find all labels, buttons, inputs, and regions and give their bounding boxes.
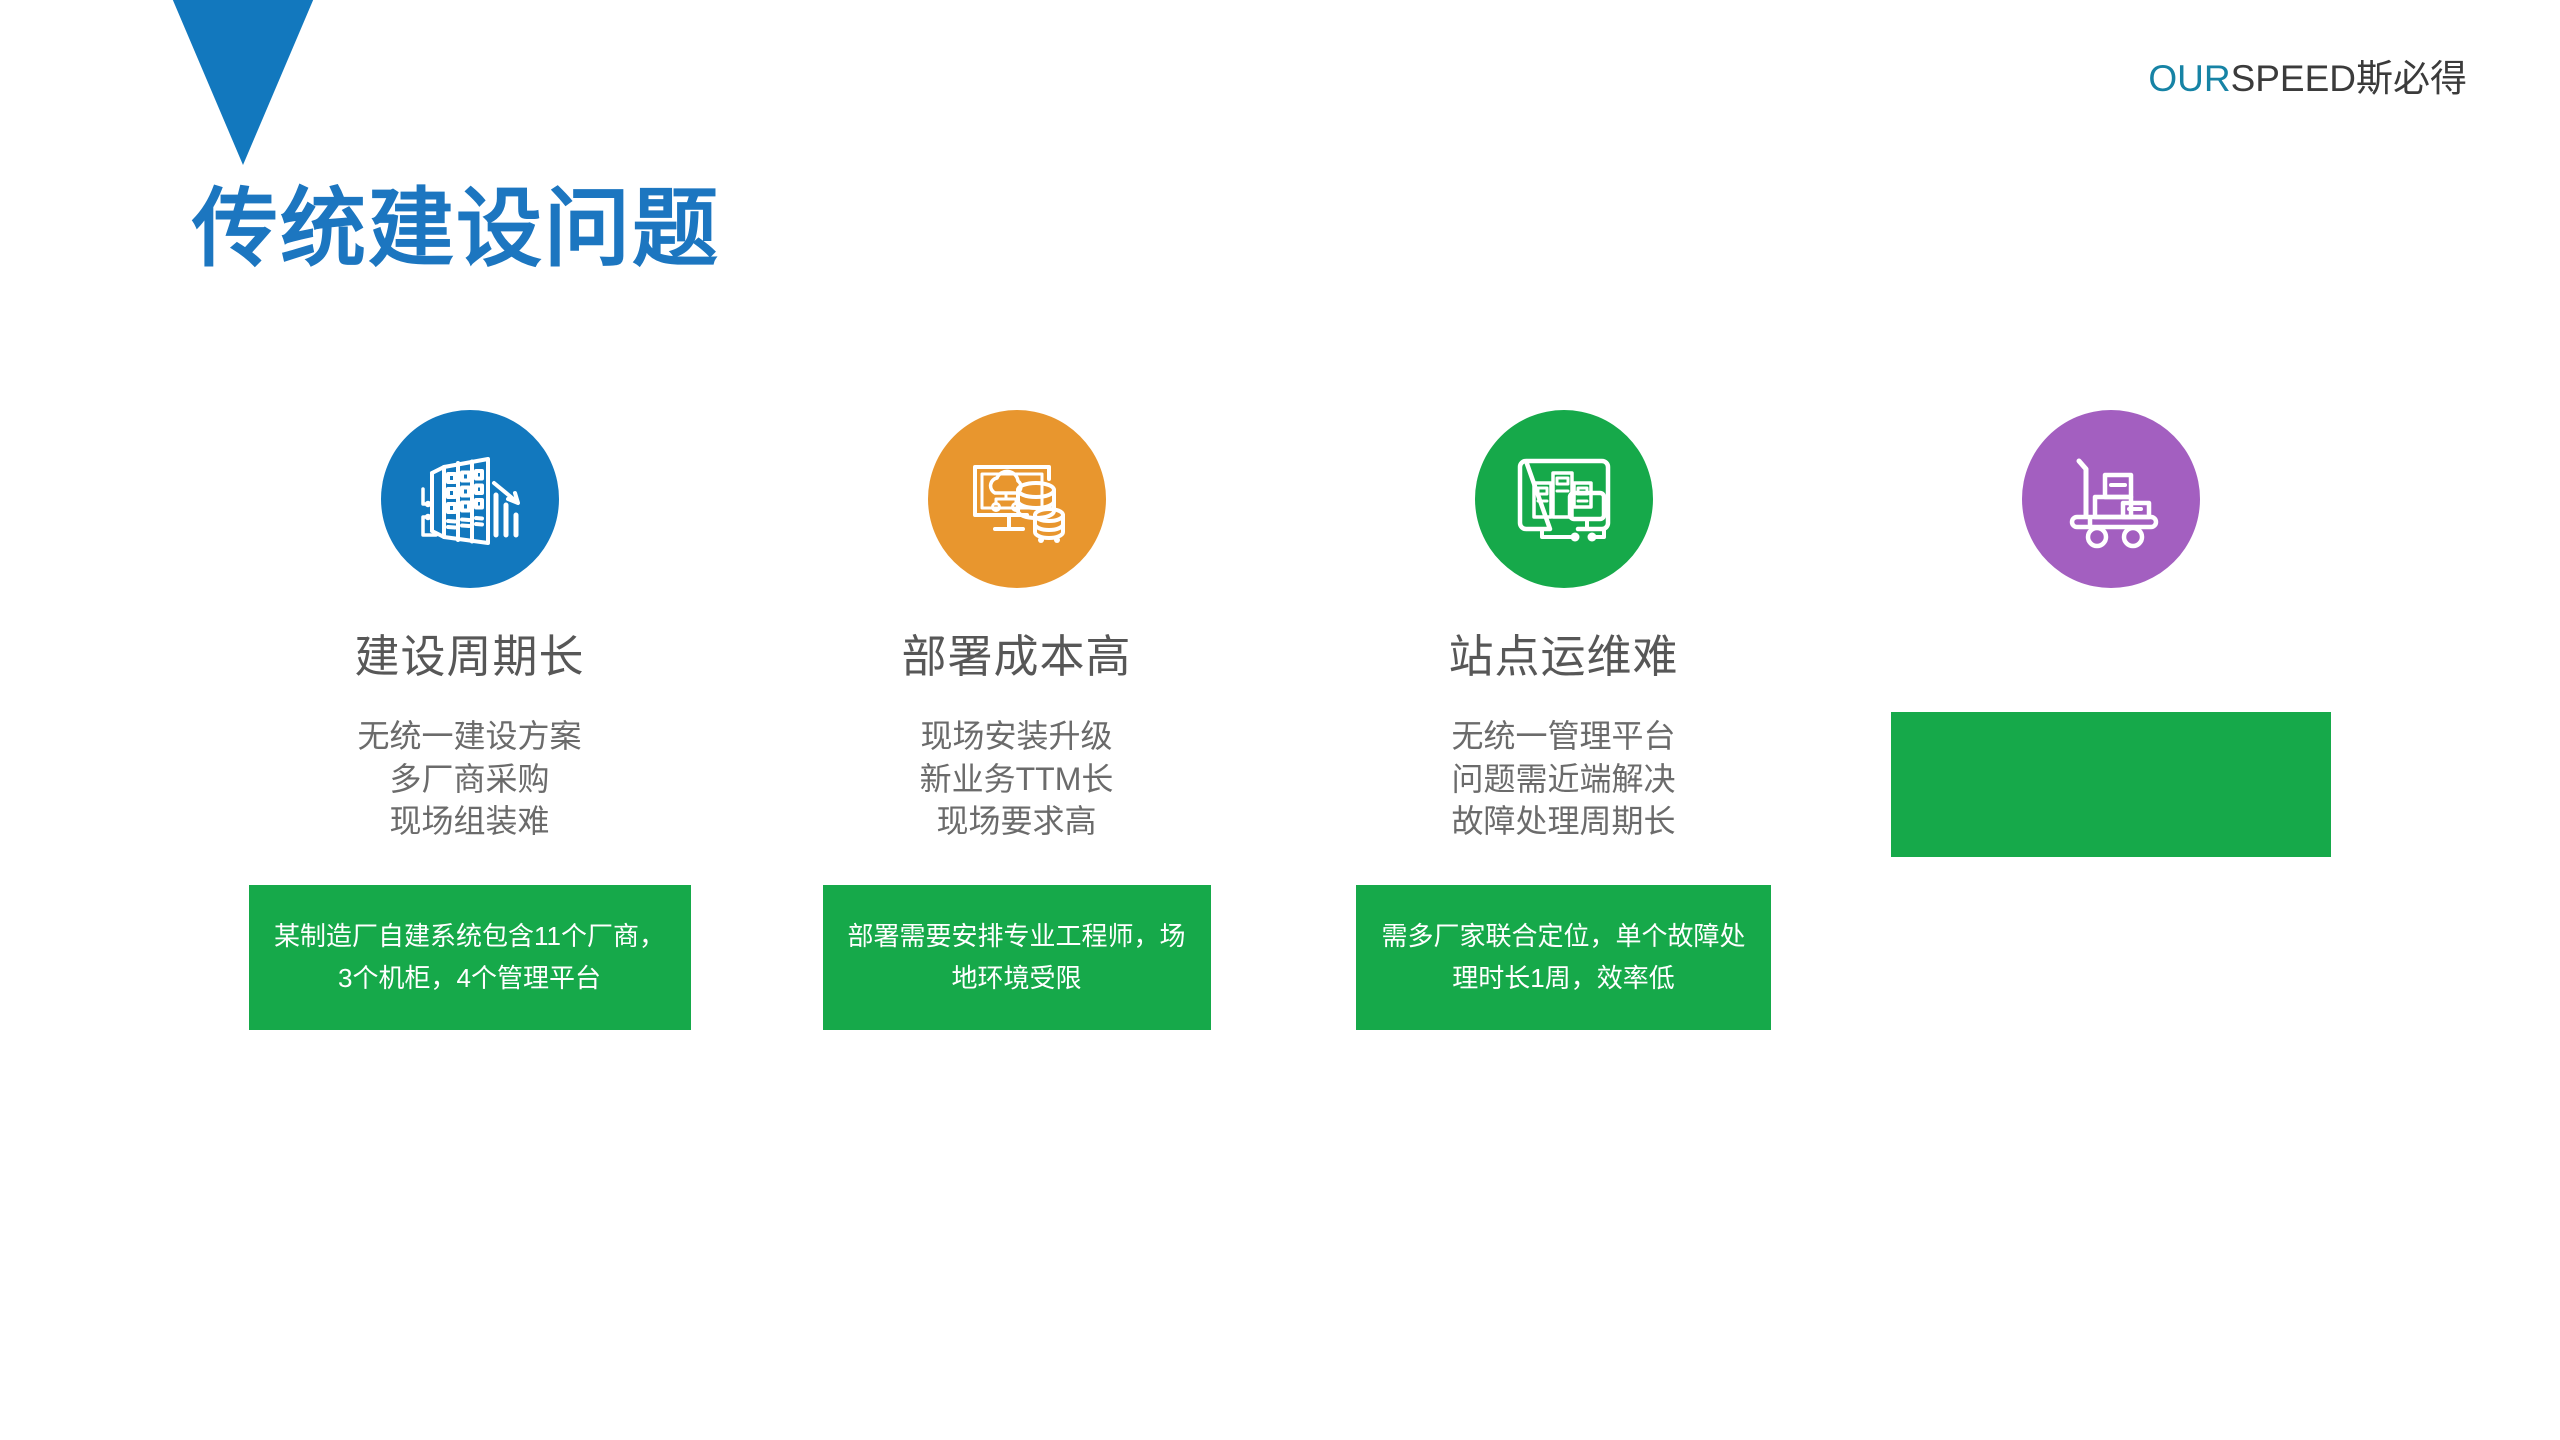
column-point: 无统一建设方案: [357, 715, 581, 758]
column-point: 故障处理周期长: [1451, 800, 1675, 843]
server-monitor-management-icon: [1475, 410, 1653, 588]
column-points: 无统一建设方案 多厂商采购 现场组装难: [357, 715, 581, 843]
case-callout-box: 某制造厂自建系统包含11个厂商，3个机柜，4个管理平台: [249, 885, 691, 1030]
problem-columns: 建设周期长 无统一建设方案 多厂商采购 现场组装难 某制造厂自建系统包含11个厂…: [196, 410, 2384, 1030]
case-callout-text: 部署需要安排专业工程师，场地环境受限: [845, 915, 1189, 999]
logo-suffix-text: SPEED斯必得: [2231, 58, 2467, 99]
monitor-coins-cost-icon: [928, 410, 1106, 588]
column-point: 现场安装升级: [920, 715, 1114, 758]
column-point: 现场组装难: [357, 800, 581, 843]
decorative-triangle: [172, 0, 314, 165]
column-point: 多厂商采购: [357, 758, 581, 801]
column-title: 部署成本高: [901, 634, 1131, 679]
page-title: 传统建设问题: [192, 186, 720, 272]
case-callout-box: [1891, 712, 2331, 857]
server-rack-declining-chart-icon: [381, 410, 559, 588]
case-callout-text: 某制造厂自建系统包含11个厂商，3个机柜，4个管理平台: [271, 915, 669, 999]
brand-logo: OURSPEED斯必得: [2148, 60, 2467, 97]
column-points: 无统一管理平台 问题需近端解决 故障处理周期长: [1451, 715, 1675, 843]
column-point: 新业务TTM长: [920, 758, 1114, 801]
slide-root: OURSPEED斯必得 传统建设问题: [0, 0, 2560, 1440]
logo-prefix-text: OUR: [2148, 58, 2230, 99]
column-title: 建设周期长: [354, 634, 584, 679]
column-point: 无统一管理平台: [1451, 715, 1675, 758]
column-points: 现场安装升级 新业务TTM长 现场要求高: [920, 715, 1114, 843]
case-callout-text: 需多厂家联合定位，单个故障处理时长1周，效率低: [1378, 915, 1749, 999]
problem-column-build-cycle: 建设周期长 无统一建设方案 多厂商采购 现场组装难 某制造厂自建系统包含11个厂…: [196, 410, 743, 1030]
hand-truck-boxes-icon: [2022, 410, 2200, 588]
case-callout-box: 部署需要安排专业工程师，场地环境受限: [823, 885, 1211, 1030]
column-point: 现场要求高: [920, 800, 1114, 843]
problem-column-site-ops: 站点运维难 无统一管理平台 问题需近端解决 故障处理周期长 需多厂家联合定位，单…: [1290, 410, 1837, 1030]
column-point: 问题需近端解决: [1451, 758, 1675, 801]
problem-column-relocation: [1837, 410, 2384, 857]
case-callout-box: 需多厂家联合定位，单个故障处理时长1周，效率低: [1356, 885, 1771, 1030]
problem-column-deploy-cost: 部署成本高 现场安装升级 新业务TTM长 现场要求高 部署需要安排专业工程师，场…: [743, 410, 1290, 1030]
column-title: 站点运维难: [1448, 634, 1678, 679]
